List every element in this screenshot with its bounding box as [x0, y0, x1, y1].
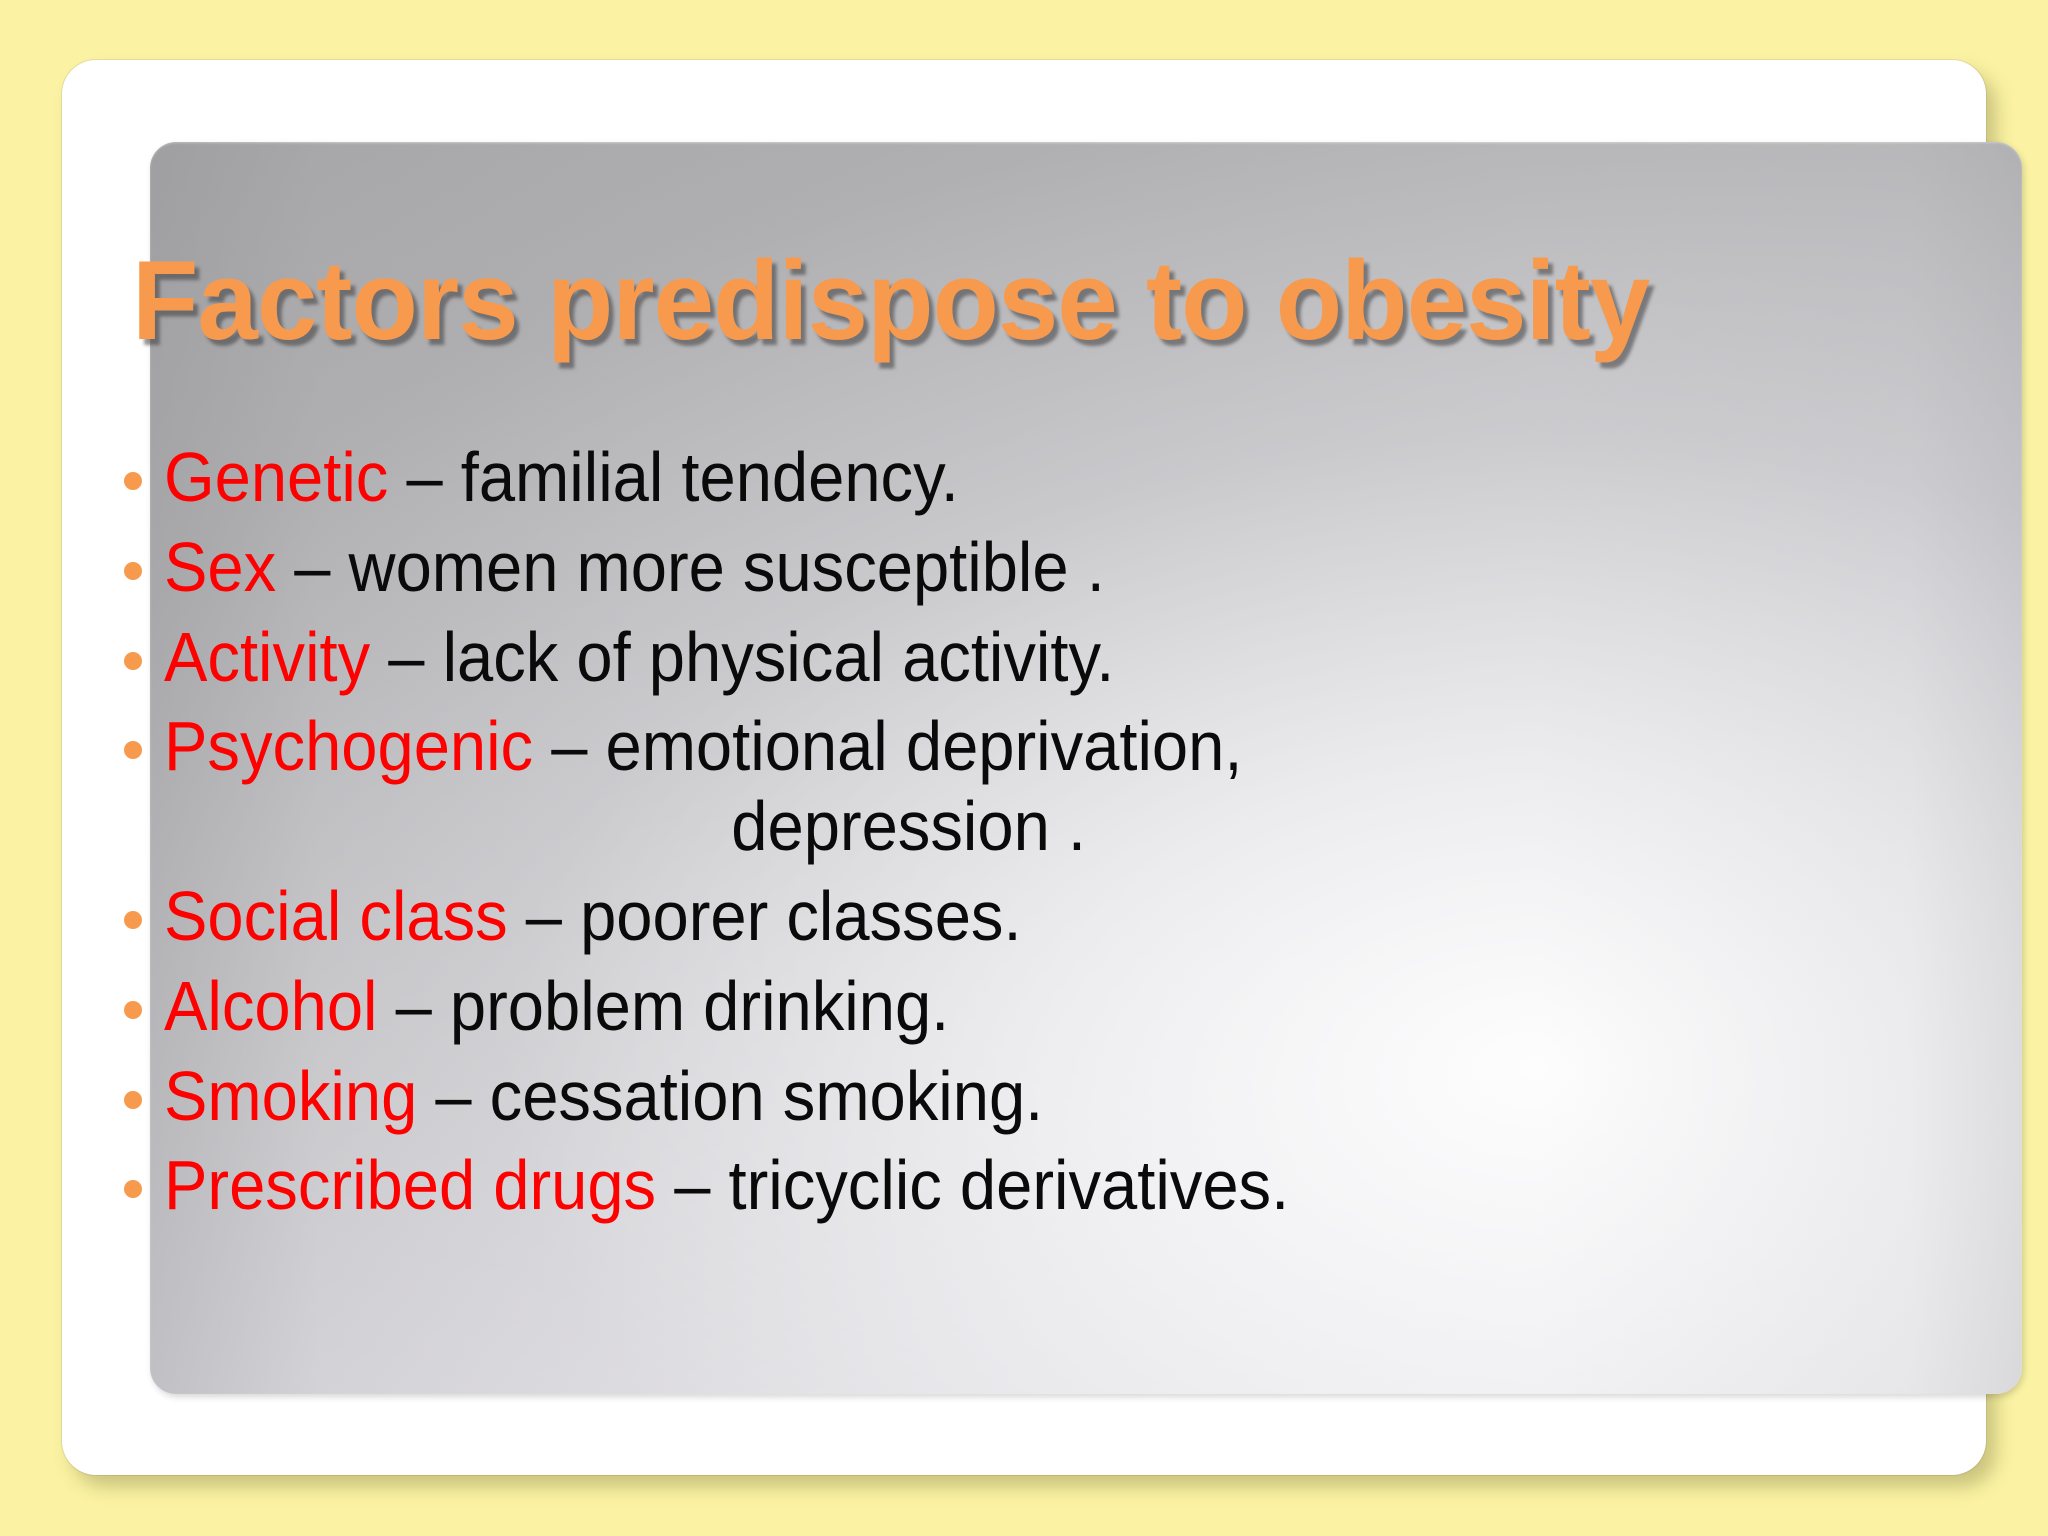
list-item: Social class – poorer classes.: [124, 877, 1914, 957]
bullet-dot-icon: [124, 1091, 142, 1109]
list-item-continuation: depression .: [164, 787, 1792, 867]
list-item-description: poorer classes.: [580, 877, 1021, 955]
list-item-dash: –: [378, 967, 450, 1045]
bullet-dot-icon: [124, 911, 142, 929]
list-item-text: Social class – poorer classes.: [164, 877, 1792, 957]
bullet-dot-icon: [124, 1180, 142, 1198]
list-item-keyword: Sex: [164, 528, 276, 606]
list-item-dash: –: [370, 618, 442, 696]
list-item: Alcohol – problem drinking.: [124, 967, 1914, 1047]
list-item-dash: –: [533, 707, 605, 785]
list-item: Psychogenic – emotional deprivation, dep…: [124, 707, 1914, 867]
bullet-dot-icon: [124, 652, 142, 670]
list-item-description: tricyclic derivatives.: [728, 1146, 1289, 1224]
list-item: Prescribed drugs – tricyclic derivatives…: [124, 1146, 1914, 1226]
list-item: Genetic – familial tendency.: [124, 438, 1914, 518]
list-item-dash: –: [276, 528, 348, 606]
list-item: Smoking – cessation smoking.: [124, 1057, 1914, 1137]
list-item-keyword: Smoking: [164, 1057, 417, 1135]
list-item-dash: –: [417, 1057, 489, 1135]
list-item-text: Smoking – cessation smoking.: [164, 1057, 1792, 1137]
bullet-dot-icon: [124, 472, 142, 490]
list-item-dash: –: [388, 438, 460, 516]
list-item-dash: –: [656, 1146, 728, 1224]
slide-title: Factors predispose to obesity: [132, 245, 1820, 357]
list-item-keyword: Prescribed drugs: [164, 1146, 656, 1224]
list-item: Sex – women more susceptible .: [124, 528, 1914, 608]
list-item-text: Psychogenic – emotional deprivation, dep…: [164, 707, 1792, 867]
list-item-description: problem drinking.: [450, 967, 949, 1045]
list-item-description: lack of physical activity.: [443, 618, 1115, 696]
list-item-description: cessation smoking.: [490, 1057, 1044, 1135]
slide-white-frame: Factors predispose to obesity Genetic – …: [62, 60, 1986, 1475]
list-item-text: Genetic – familial tendency.: [164, 438, 1792, 518]
list-item-keyword: Psychogenic: [164, 707, 533, 785]
list-item-text: Alcohol – problem drinking.: [164, 967, 1792, 1047]
list-item-keyword: Alcohol: [164, 967, 378, 1045]
list-item-text: Activity – lack of physical activity.: [164, 618, 1792, 698]
bullet-list: Genetic – familial tendency. Sex – women…: [124, 438, 1914, 1236]
bullet-dot-icon: [124, 562, 142, 580]
list-item-keyword: Social class: [164, 877, 508, 955]
list-item-text: Sex – women more susceptible .: [164, 528, 1792, 608]
list-item: Activity – lack of physical activity.: [124, 618, 1914, 698]
bullet-dot-icon: [124, 1001, 142, 1019]
list-item-description: emotional deprivation,: [606, 707, 1243, 785]
bullet-dot-icon: [124, 741, 142, 759]
list-item-text: Prescribed drugs – tricyclic derivatives…: [164, 1146, 1792, 1226]
list-item-description: women more susceptible .: [349, 528, 1105, 606]
list-item-dash: –: [508, 877, 580, 955]
list-item-keyword: Genetic: [164, 438, 388, 516]
list-item-keyword: Activity: [164, 618, 370, 696]
list-item-description: familial tendency.: [461, 438, 959, 516]
presentation-slide: Factors predispose to obesity Genetic – …: [0, 0, 2048, 1536]
